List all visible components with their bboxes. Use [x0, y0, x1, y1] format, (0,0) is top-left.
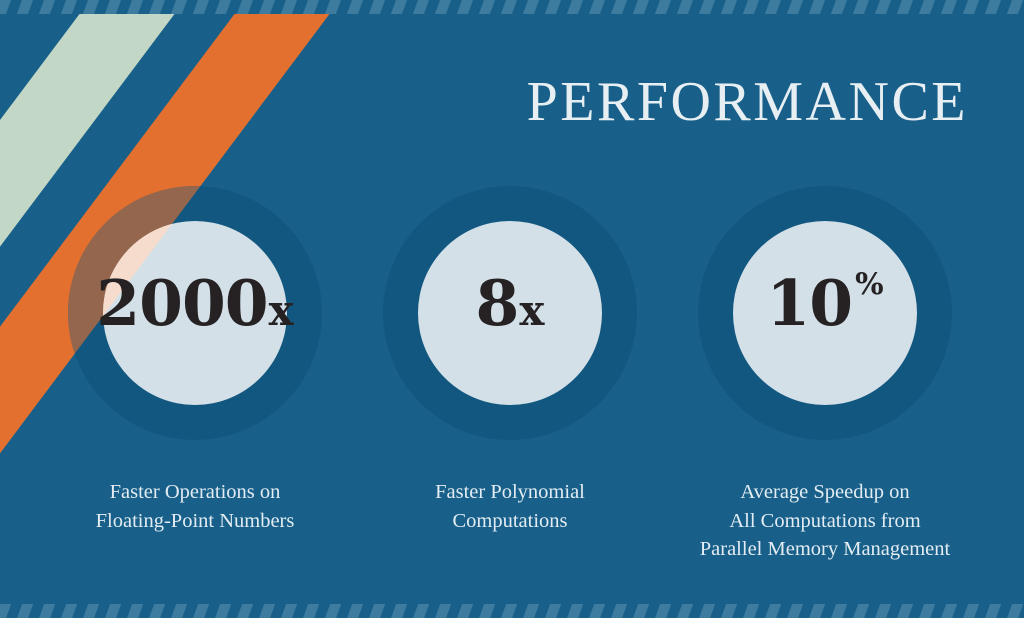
- caption-line: Faster Polynomial: [340, 478, 680, 507]
- caption-line: Faster Operations on: [25, 478, 365, 507]
- caption-line: Floating-Point Numbers: [25, 507, 365, 536]
- caption-line: Computations: [340, 507, 680, 536]
- stat-value-2: 8 x: [340, 272, 680, 356]
- caption-line: Average Speedup on: [645, 478, 1005, 507]
- content-layer: PERFORMANCE 2000 x Faster Operations on …: [0, 0, 1024, 618]
- stat-caption-3: Average Speedup on All Computations from…: [645, 478, 1005, 564]
- stat-suffix-3: %: [855, 270, 884, 300]
- stat-value-3: 10 %: [655, 272, 995, 356]
- stat-number-1: 2000: [96, 272, 267, 335]
- stat-group-floating-point: 2000 x Faster Operations on Floating-Poi…: [25, 0, 365, 618]
- stat-group-parallel-memory: 10 % Average Speedup on All Computations…: [655, 0, 995, 618]
- stat-number-3: 10: [766, 272, 852, 335]
- caption-line: All Computations from: [645, 507, 1005, 536]
- stat-caption-1: Faster Operations on Floating-Point Numb…: [25, 478, 365, 535]
- infographic-slide: PERFORMANCE 2000 x Faster Operations on …: [0, 0, 1024, 618]
- stat-suffix-2: x: [519, 290, 544, 332]
- stat-caption-2: Faster Polynomial Computations: [340, 478, 680, 535]
- stat-group-polynomial: 8 x Faster Polynomial Computations: [340, 0, 680, 618]
- stat-suffix-1: x: [269, 290, 294, 332]
- caption-line: Parallel Memory Management: [645, 535, 1005, 564]
- stat-number-2: 8: [476, 272, 519, 335]
- stat-value-1: 2000 x: [25, 272, 365, 356]
